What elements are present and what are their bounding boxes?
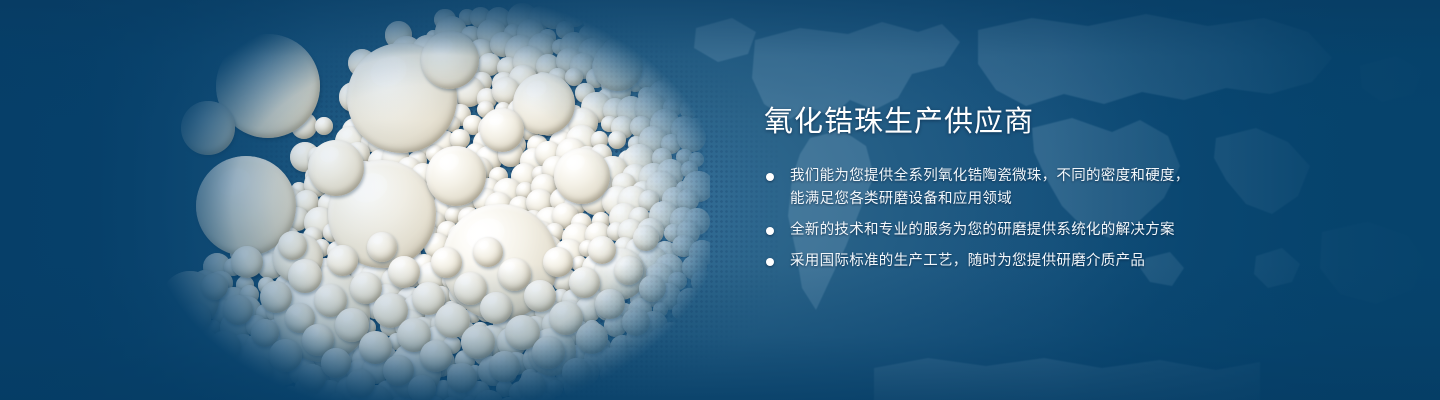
bullet-item: 采用国际标准的生产工艺，随时为您提供研磨介质产品 <box>764 250 1324 273</box>
bullet-item: 我们能为您提供全系列氧化锆陶瓷微珠，不同的密度和硬度，能满足您各类研磨设备和应用… <box>764 165 1324 211</box>
banner-content: 氧化锆珠生产供应商 我们能为您提供全系列氧化锆陶瓷微珠，不同的密度和硬度，能满足… <box>764 104 1324 273</box>
hero-banner: 氧化锆珠生产供应商 我们能为您提供全系列氧化锆陶瓷微珠，不同的密度和硬度，能满足… <box>0 0 1440 400</box>
bullet-dot-icon <box>766 173 774 181</box>
bullet-line: 我们能为您提供全系列氧化锆陶瓷微珠，不同的密度和硬度， <box>790 165 1324 188</box>
bullet-line: 采用国际标准的生产工艺，随时为您提供研磨介质产品 <box>790 250 1324 273</box>
bullet-dot-icon <box>766 258 774 266</box>
bullet-line: 能满足您各类研磨设备和应用领域 <box>790 188 1324 211</box>
bullet-line: 全新的技术和专业的服务为您的研磨提供系统化的解决方案 <box>790 219 1324 242</box>
banner-headline: 氧化锆珠生产供应商 <box>764 104 1324 139</box>
banner-bullet-list: 我们能为您提供全系列氧化锆陶瓷微珠，不同的密度和硬度，能满足您各类研磨设备和应用… <box>764 165 1324 273</box>
bullet-item: 全新的技术和专业的服务为您的研磨提供系统化的解决方案 <box>764 219 1324 242</box>
bullet-dot-icon <box>766 227 774 235</box>
